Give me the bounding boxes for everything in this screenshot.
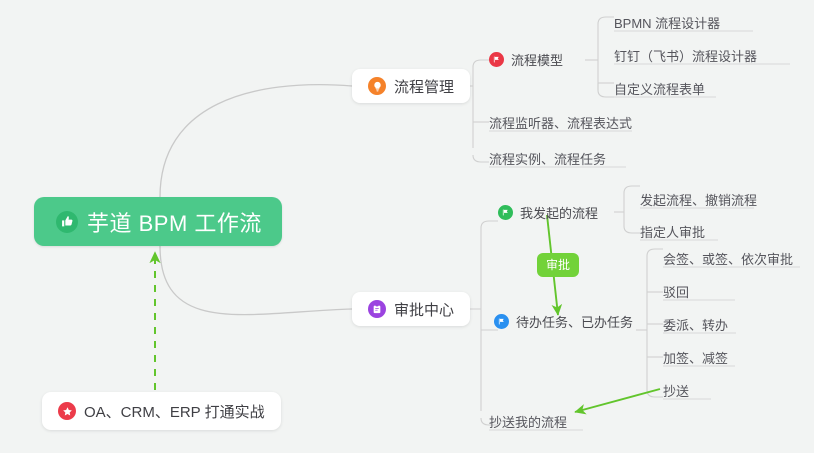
topic-process-model[interactable]: 流程模型 bbox=[489, 50, 563, 69]
leaf-assignee-approval[interactable]: 指定人审批 bbox=[640, 222, 705, 245]
edge-pm-to-model bbox=[473, 60, 489, 67]
root-node[interactable]: 芋道 BPM 工作流 bbox=[34, 197, 282, 246]
branch-process-management[interactable]: 流程管理 bbox=[352, 69, 470, 103]
topic-my-initiated[interactable]: 我发起的流程 bbox=[498, 203, 598, 222]
flag-icon bbox=[489, 52, 504, 67]
leaf-add-remove-sign[interactable]: 加签、减签 bbox=[663, 348, 728, 371]
branch-approval-center-label: 审批中心 bbox=[394, 299, 454, 320]
edge-root-to-process-management bbox=[160, 85, 352, 197]
leaf-reject[interactable]: 驳回 bbox=[663, 282, 689, 305]
leaf-process-instance[interactable]: 流程实例、流程任务 bbox=[489, 149, 606, 172]
leaf-start-cancel-process[interactable]: 发起流程、撤销流程 bbox=[640, 190, 757, 213]
topic-todo-done-tasks-label: 待办任务、已办任务 bbox=[516, 312, 633, 331]
approval-tag-badge[interactable]: 审批 bbox=[537, 253, 579, 277]
topic-process-model-label: 流程模型 bbox=[511, 50, 563, 69]
edge-model-to-form bbox=[598, 90, 614, 97]
edge-todo-to-countersign bbox=[647, 249, 663, 256]
leaf-countersign[interactable]: 会签、或签、依次审批 bbox=[663, 249, 793, 272]
star-icon bbox=[58, 402, 76, 420]
edge-ac-to-initiated bbox=[481, 221, 498, 228]
topic-my-initiated-label: 我发起的流程 bbox=[520, 203, 598, 222]
leaf-cc-my-process[interactable]: 抄送我的流程 bbox=[489, 412, 567, 435]
leaf-delegate-transfer[interactable]: 委派、转办 bbox=[663, 315, 728, 338]
leaf-bpmn-designer[interactable]: BPMN 流程设计器 bbox=[614, 13, 720, 36]
flag-icon bbox=[494, 314, 509, 329]
branch-approval-center[interactable]: 审批中心 bbox=[352, 292, 470, 326]
clipboard-icon bbox=[368, 300, 386, 318]
cc-flow-arrow bbox=[575, 389, 660, 412]
leaf-dingtalk-designer[interactable]: 钉钉（飞书）流程设计器 bbox=[614, 46, 757, 69]
footer-node-label: OA、CRM、ERP 打通实战 bbox=[84, 401, 265, 422]
edge-initiated-to-start bbox=[624, 186, 640, 193]
edge-model-to-bpmn bbox=[598, 17, 614, 24]
edge-root-to-approval-center bbox=[160, 246, 352, 315]
lightbulb-icon bbox=[368, 77, 386, 95]
leaf-cc[interactable]: 抄送 bbox=[663, 381, 689, 404]
thumbs-up-icon bbox=[56, 211, 78, 233]
branch-process-management-label: 流程管理 bbox=[394, 76, 454, 97]
root-label: 芋道 BPM 工作流 bbox=[87, 206, 262, 238]
leaf-custom-form[interactable]: 自定义流程表单 bbox=[614, 79, 705, 102]
mindmap-canvas: 芋道 BPM 工作流 OA、CRM、ERP 打通实战 流程管理 流程模 bbox=[0, 0, 814, 453]
edge-pm-to-instance bbox=[473, 155, 489, 162]
edge-initiated-to-assignee bbox=[624, 226, 640, 233]
flag-icon bbox=[498, 205, 513, 220]
footer-node[interactable]: OA、CRM、ERP 打通实战 bbox=[42, 392, 281, 430]
topic-todo-done-tasks[interactable]: 待办任务、已办任务 bbox=[494, 312, 633, 331]
leaf-process-listener[interactable]: 流程监听器、流程表达式 bbox=[489, 113, 632, 136]
